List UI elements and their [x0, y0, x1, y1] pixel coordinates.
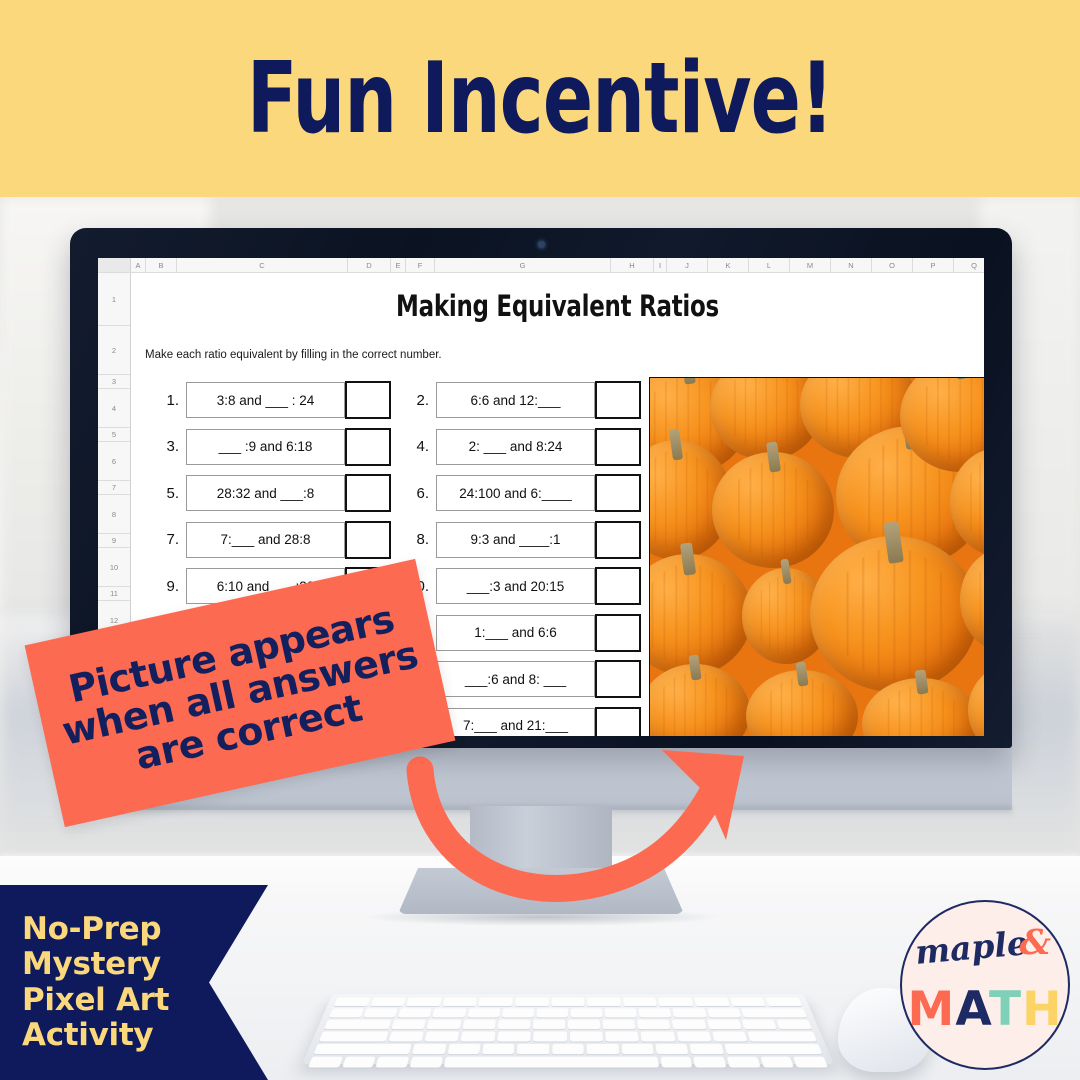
pumpkin-ribs: [973, 556, 984, 643]
answer-input-cell[interactable]: [595, 521, 641, 559]
key-arrow-left[interactable]: [727, 1057, 761, 1068]
key[interactable]: [587, 1044, 619, 1054]
problem-number: 6.: [391, 485, 436, 502]
row-header-8[interactable]: 8: [98, 495, 130, 534]
keyboard-row: [334, 997, 803, 1006]
key[interactable]: [427, 1020, 461, 1030]
key-command[interactable]: [410, 1057, 443, 1068]
problem-text-cell: 1:___ and 6:6: [436, 615, 595, 651]
problem-number: 7.: [141, 531, 186, 548]
key-caps[interactable]: [319, 1031, 388, 1041]
row-header-7[interactable]: 7: [98, 481, 130, 495]
row-header-1[interactable]: 1: [98, 273, 130, 326]
key[interactable]: [741, 1020, 776, 1030]
pumpkin: [649, 554, 752, 676]
pumpkin-ribs: [655, 672, 734, 736]
keyboard[interactable]: [302, 994, 834, 1064]
key[interactable]: [329, 1008, 364, 1017]
key[interactable]: [467, 1008, 500, 1017]
problem-item: 5.28:32 and ___:8: [141, 474, 391, 512]
key[interactable]: [406, 997, 441, 1006]
key[interactable]: [776, 1020, 812, 1030]
key[interactable]: [497, 1031, 531, 1041]
pumpkin-photo: [649, 377, 984, 736]
key[interactable]: [694, 997, 729, 1006]
monitor-stand-foot: [398, 868, 684, 914]
key[interactable]: [443, 997, 478, 1006]
key[interactable]: [517, 1044, 549, 1054]
key-tab[interactable]: [324, 1020, 391, 1030]
key[interactable]: [605, 1008, 637, 1017]
problem-item: 7.7:___ and 28:8: [141, 521, 391, 559]
pumpkin-ribs: [879, 685, 964, 736]
pumpkin: [968, 664, 984, 736]
column-header-b[interactable]: B: [146, 258, 177, 272]
pumpkin: [649, 664, 750, 736]
answer-input-cell[interactable]: [345, 521, 391, 559]
problem-item: 1.3:8 and ___ : 24: [141, 381, 391, 419]
key[interactable]: [672, 1020, 706, 1030]
keyboard-row: [314, 1044, 823, 1054]
answer-input-cell[interactable]: [345, 428, 391, 466]
key[interactable]: [641, 1031, 675, 1041]
key[interactable]: [571, 1008, 603, 1017]
key-fn[interactable]: [308, 1057, 343, 1068]
problem-item: 2.6:6 and 12:___: [391, 381, 641, 419]
keyboard-row: [329, 1008, 807, 1017]
key[interactable]: [398, 1008, 432, 1017]
ribbon-line-4: Activity: [22, 1017, 153, 1053]
column-header-l[interactable]: L: [749, 258, 790, 272]
problem-row: 5.28:32 and ___:86.24:100 and 6:____: [141, 470, 641, 517]
ribbon-line-3: Pixel Art: [22, 982, 169, 1018]
worksheet-instruction: Make each ratio equivalent by filling in…: [145, 349, 442, 361]
key-shift-right[interactable]: [724, 1044, 822, 1054]
key[interactable]: [659, 997, 694, 1006]
problem-number: 4.: [391, 438, 436, 455]
logo-letter-t: T: [989, 982, 1022, 1037]
key[interactable]: [412, 1044, 446, 1054]
webcam-icon: [538, 241, 545, 248]
key[interactable]: [570, 1031, 603, 1041]
problem-text-cell: 7:___ and 28:8: [186, 522, 345, 558]
pumpkin: [810, 536, 978, 692]
keyboard-row: [319, 1031, 817, 1041]
row-header-11[interactable]: 11: [98, 587, 130, 601]
key[interactable]: [551, 997, 584, 1006]
logo-letter-m: M: [908, 982, 956, 1037]
pumpkin-ribs: [834, 548, 955, 679]
key[interactable]: [461, 1031, 495, 1041]
ribbon-text: No-Prep Mystery Pixel Art Activity: [0, 912, 169, 1053]
worksheet-title: Making Equivalent Ratios: [182, 289, 933, 323]
column-header-row: ABCDEFGHIJKLMNOPQ: [98, 258, 984, 273]
answer-input-cell[interactable]: [595, 428, 641, 466]
logo-script-word: maple: [914, 923, 1030, 972]
key-option[interactable]: [376, 1057, 410, 1068]
key[interactable]: [334, 997, 371, 1006]
key-arrow-right[interactable]: [793, 1057, 828, 1068]
problem-text-cell: 24:100 and 6:____: [436, 475, 595, 511]
row-header-2[interactable]: 2: [98, 326, 130, 375]
column-header-p[interactable]: P: [913, 258, 954, 272]
problem-item: 10.___:3 and 20:15: [391, 567, 641, 605]
page-title: Fun Incentive!: [247, 50, 833, 148]
key[interactable]: [364, 1008, 398, 1017]
key[interactable]: [462, 1020, 495, 1030]
key[interactable]: [479, 997, 513, 1006]
key[interactable]: [447, 1044, 480, 1054]
problem-text-cell: 6:6 and 12:___: [436, 382, 595, 418]
key[interactable]: [656, 1044, 689, 1054]
key[interactable]: [676, 1031, 711, 1041]
key[interactable]: [712, 1031, 748, 1041]
key[interactable]: [515, 997, 549, 1006]
pumpkin-ribs: [754, 576, 817, 657]
key[interactable]: [603, 1020, 636, 1030]
answer-input-cell[interactable]: [595, 381, 641, 419]
select-all-corner[interactable]: [98, 258, 131, 272]
brand-logo: maple & MATH: [900, 900, 1070, 1070]
key[interactable]: [623, 997, 657, 1006]
column-header-k[interactable]: K: [708, 258, 749, 272]
column-header-j[interactable]: J: [667, 258, 708, 272]
pumpkin-ribs: [649, 564, 734, 667]
pumpkin-ribs: [649, 450, 716, 551]
answer-input-cell[interactable]: [595, 660, 641, 698]
key[interactable]: [425, 1031, 460, 1041]
key[interactable]: [621, 1044, 654, 1054]
key[interactable]: [637, 1020, 670, 1030]
problem-number: 5.: [141, 485, 186, 502]
key-control[interactable]: [342, 1057, 376, 1068]
pumpkin-ribs: [963, 457, 984, 548]
problem-text-cell: 9:3 and ____:1: [436, 522, 595, 558]
header-banner: Fun Incentive!: [0, 0, 1080, 197]
problem-text-cell: ___:6 and 8: ___: [436, 661, 595, 697]
key-command-right[interactable]: [660, 1057, 692, 1068]
answer-input-cell[interactable]: [345, 381, 391, 419]
pumpkin-ribs: [980, 671, 984, 736]
column-header-g[interactable]: G: [435, 258, 611, 272]
key-arrow-updown[interactable]: [760, 1057, 794, 1068]
problem-item: 3.___ :9 and 6:18: [141, 428, 391, 466]
problem-text-cell: 2: ___ and 8:24: [436, 429, 595, 465]
pumpkin-ribs: [917, 377, 984, 463]
problem-item: 6.24:100 and 6:____: [391, 474, 641, 512]
problem-number: 8.: [391, 531, 436, 548]
key[interactable]: [482, 1044, 515, 1054]
pumpkin-ribs: [729, 461, 817, 558]
logo-letter-a: A: [955, 982, 989, 1037]
pumpkin-ribs: [762, 677, 843, 736]
key[interactable]: [639, 1008, 672, 1017]
row-header-6[interactable]: 6: [98, 442, 130, 481]
logo-math-word: MATH: [902, 982, 1068, 1037]
key[interactable]: [370, 997, 406, 1006]
key[interactable]: [502, 1008, 534, 1017]
key[interactable]: [707, 1020, 742, 1030]
key[interactable]: [673, 1008, 706, 1017]
key[interactable]: [568, 1020, 600, 1030]
column-header-c[interactable]: C: [177, 258, 348, 272]
answer-input-cell[interactable]: [595, 707, 641, 736]
keyboard-row: [324, 1020, 812, 1030]
row-header-5[interactable]: 5: [98, 428, 130, 442]
pumpkin: [712, 452, 834, 568]
row-header-10[interactable]: 10: [98, 548, 130, 587]
keyboard-row: [308, 1057, 828, 1068]
answer-input-cell[interactable]: [595, 567, 641, 605]
key[interactable]: [766, 997, 803, 1006]
column-header-f[interactable]: F: [406, 258, 435, 272]
column-header-n[interactable]: N: [831, 258, 872, 272]
answer-input-cell[interactable]: [595, 614, 641, 652]
row-header-4[interactable]: 4: [98, 389, 130, 428]
answer-input-cell[interactable]: [595, 474, 641, 512]
problem-text-cell: 7:___ and 21:___: [436, 708, 595, 736]
ribbon-line-1: No-Prep: [22, 911, 161, 947]
key-delete[interactable]: [741, 1008, 807, 1017]
key[interactable]: [388, 1031, 424, 1041]
row-header-9[interactable]: 9: [98, 534, 130, 548]
screenshot-canvas: Fun Incentive! ABCDEFGHIJKLMNOPQ 1234567…: [0, 0, 1080, 1080]
problem-text-cell: ___:3 and 20:15: [436, 568, 595, 604]
column-header-o[interactable]: O: [872, 258, 913, 272]
problem-number: 9.: [141, 578, 186, 595]
problem-text-cell: ___ :9 and 6:18: [186, 429, 345, 465]
column-header-e[interactable]: E: [391, 258, 406, 272]
key[interactable]: [536, 1008, 568, 1017]
key[interactable]: [533, 1020, 565, 1030]
problem-row: 3.___ :9 and 6:184.2: ___ and 8:24: [141, 424, 641, 471]
key-option-right[interactable]: [693, 1057, 726, 1068]
key[interactable]: [533, 1031, 566, 1041]
monitor-stand-neck: [470, 806, 612, 870]
pumpkin-ribs: [726, 377, 807, 452]
logo-letter-h: H: [1022, 982, 1062, 1037]
key[interactable]: [707, 1008, 741, 1017]
problem-text-cell: 28:32 and ___:8: [186, 475, 345, 511]
ribbon-line-2: Mystery: [22, 946, 161, 982]
logo-ampersand: &: [1019, 922, 1051, 963]
column-header-m[interactable]: M: [790, 258, 831, 272]
problem-row: 1.3:8 and ___ : 242.6:6 and 12:___: [141, 377, 641, 424]
column-header-a[interactable]: A: [131, 258, 146, 272]
key[interactable]: [552, 1044, 584, 1054]
key[interactable]: [690, 1044, 724, 1054]
key[interactable]: [433, 1008, 466, 1017]
problem-row: 7.7:___ and 28:88.9:3 and ____:1: [141, 517, 641, 564]
column-header-i[interactable]: I: [654, 258, 667, 272]
key[interactable]: [392, 1020, 427, 1030]
key-return[interactable]: [748, 1031, 817, 1041]
problem-text-cell: 3:8 and ___ : 24: [186, 382, 345, 418]
key[interactable]: [587, 997, 621, 1006]
answer-input-cell[interactable]: [345, 474, 391, 512]
problem-item: 4.2: ___ and 8:24: [391, 428, 641, 466]
key[interactable]: [730, 997, 766, 1006]
column-header-q[interactable]: Q: [954, 258, 984, 272]
key-shift[interactable]: [314, 1044, 412, 1054]
key-space[interactable]: [444, 1057, 659, 1068]
key[interactable]: [605, 1031, 639, 1041]
problem-number: 2.: [391, 392, 436, 409]
column-header-h[interactable]: H: [611, 258, 654, 272]
pumpkin: [746, 670, 858, 736]
problem-number: 1.: [141, 392, 186, 409]
row-header-3[interactable]: 3: [98, 375, 130, 389]
key[interactable]: [497, 1020, 530, 1030]
problem-item: 8.9:3 and ____:1: [391, 521, 641, 559]
column-header-d[interactable]: D: [348, 258, 391, 272]
problem-number: 3.: [141, 438, 186, 455]
